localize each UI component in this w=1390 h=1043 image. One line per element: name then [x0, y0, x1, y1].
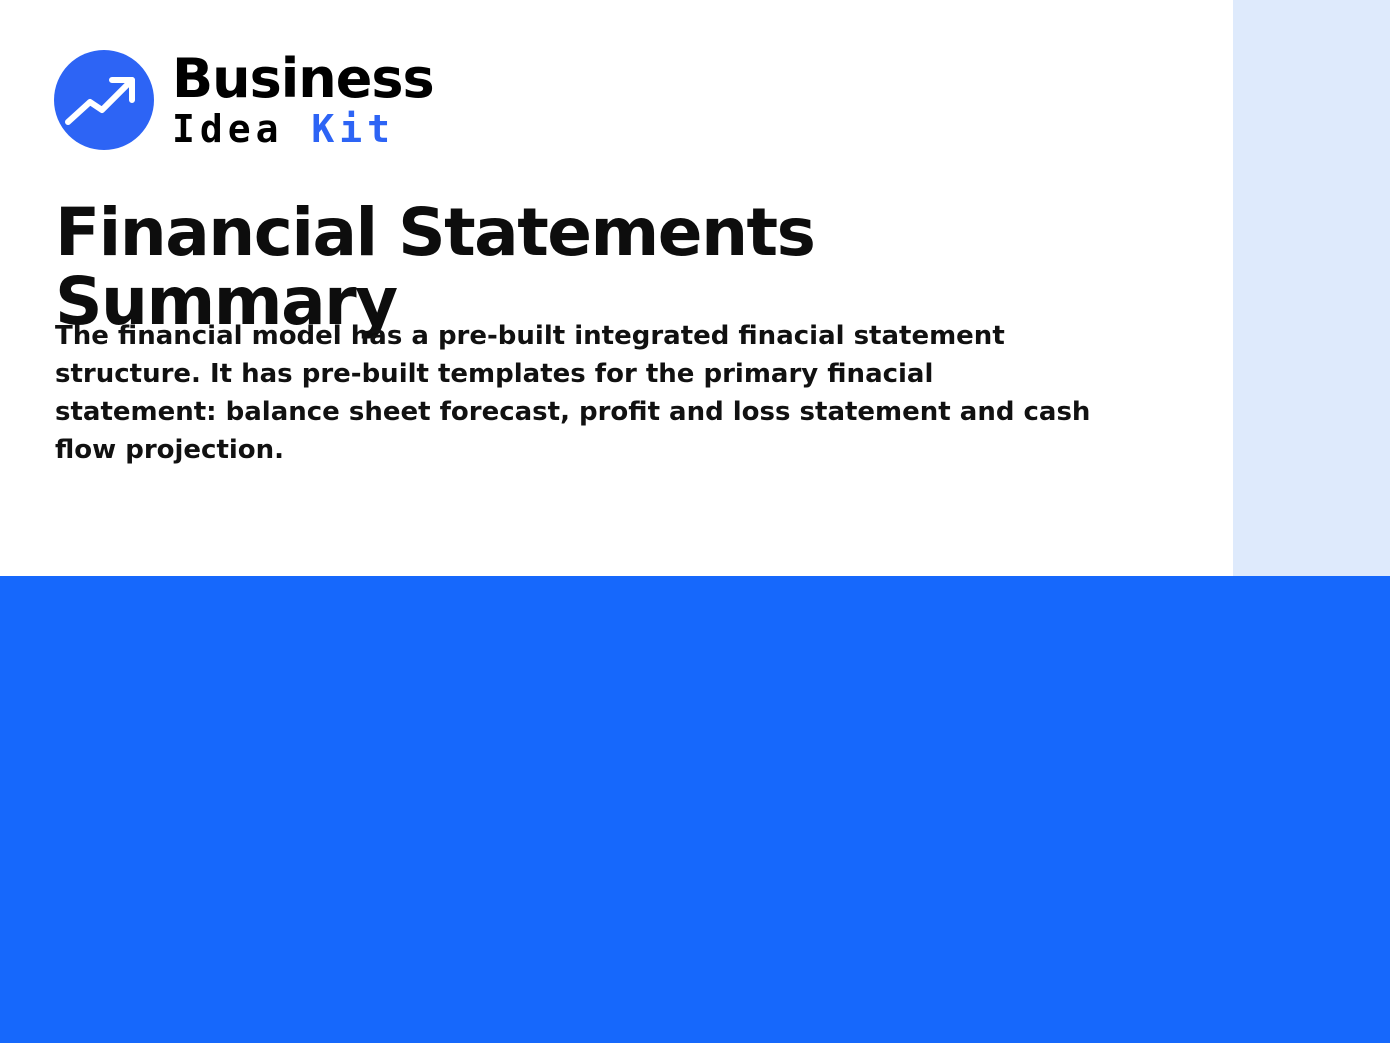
brand-kit-text: Kit	[311, 107, 395, 151]
brand-idea-text: Idea	[172, 107, 311, 151]
brand-name-line2: Idea Kit	[172, 110, 434, 148]
page-description: The financial model has a pre-built inte…	[55, 318, 1095, 470]
hero-section: Business Idea Kit Financial Statements S…	[0, 0, 1390, 577]
brand-name-line1: Business	[172, 52, 434, 106]
decorative-side-band	[1233, 0, 1390, 577]
preview-strip: Cash Flow Statement ($'000) - 2025 MayJu…	[0, 576, 1390, 1043]
upward-trend-arrow-icon	[54, 50, 154, 150]
page-title: Financial Statements Summary	[55, 198, 1175, 337]
brand-logo: Business Idea Kit	[54, 50, 434, 150]
